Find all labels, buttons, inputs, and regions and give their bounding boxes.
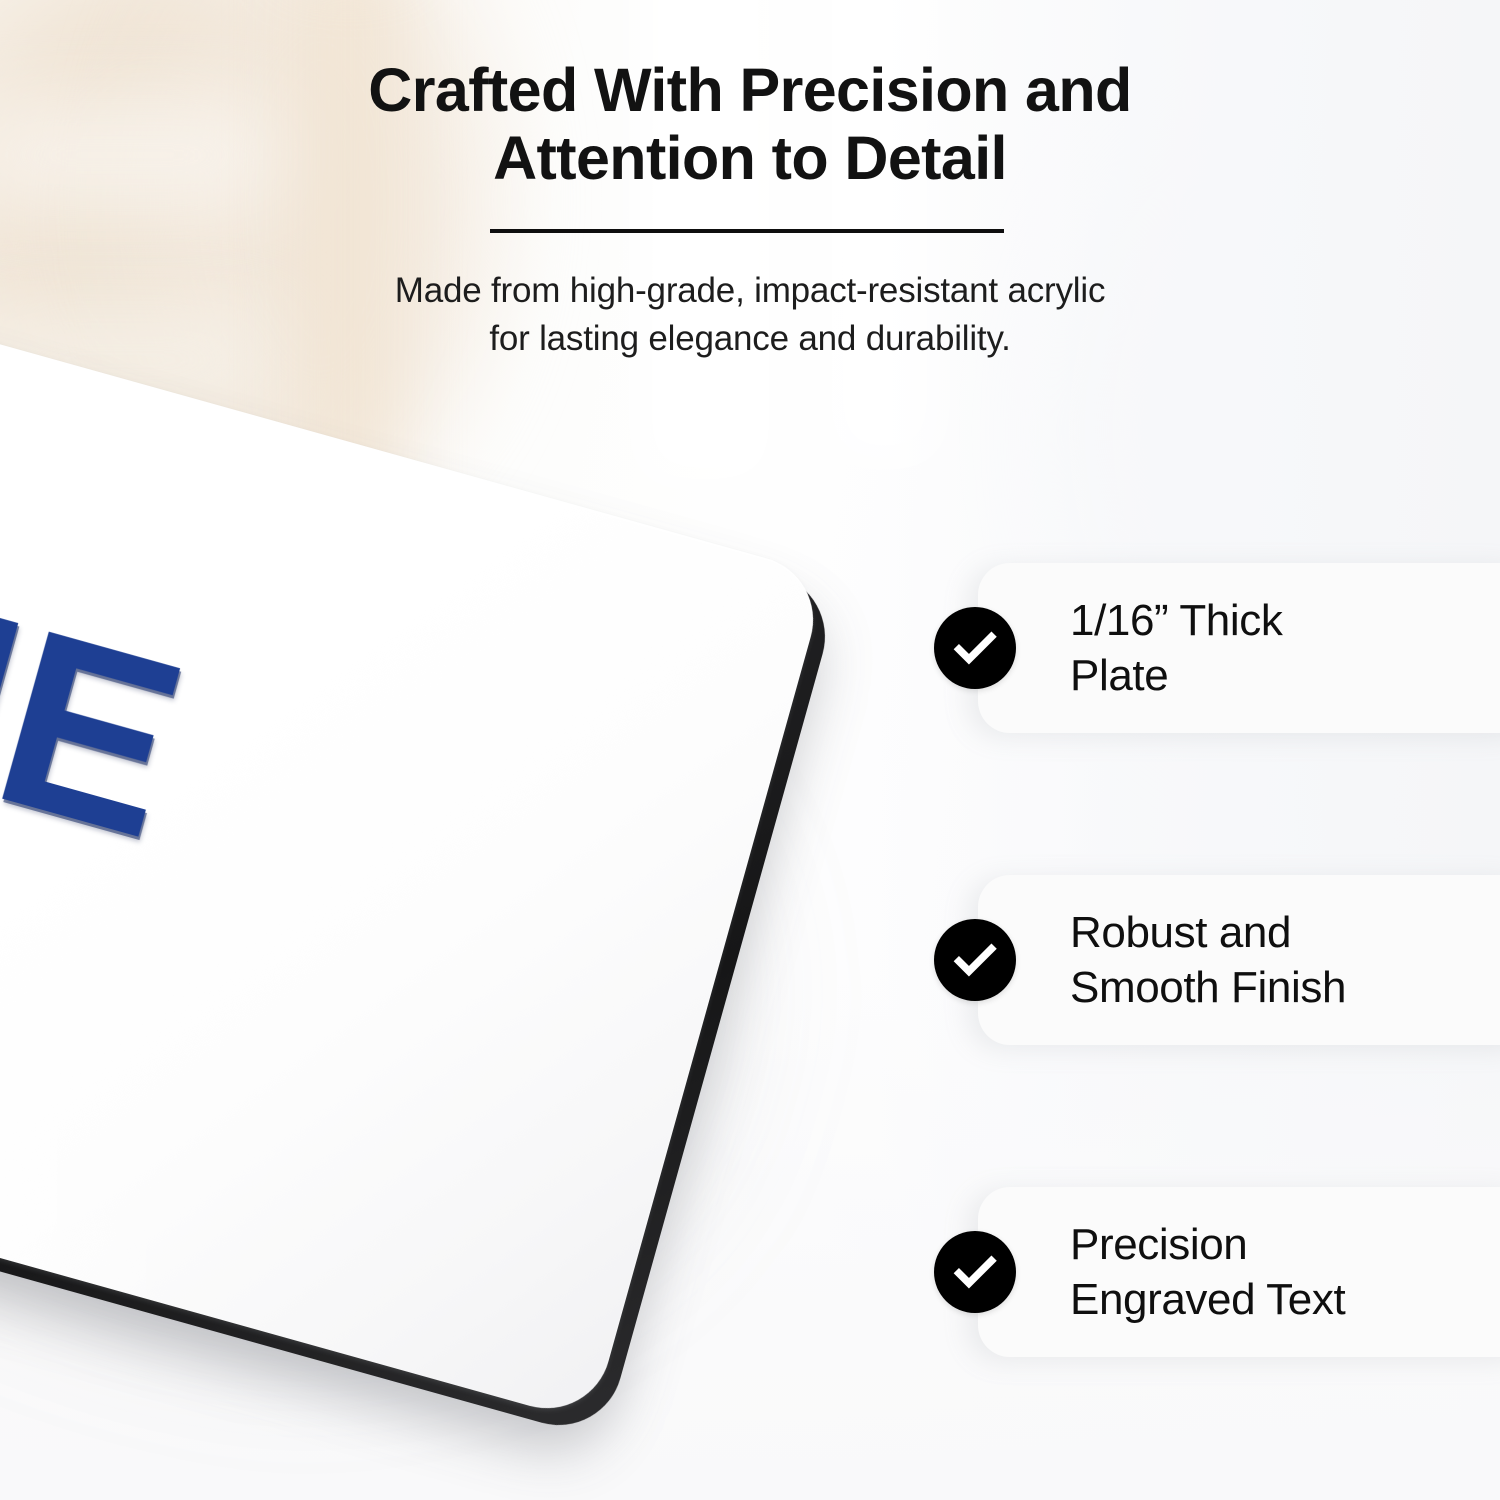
feature-label-line-2: Engraved Text — [1070, 1275, 1345, 1324]
feature-card-engraving[interactable]: Precision Engraved Text — [978, 1187, 1500, 1357]
page-title: Crafted With Precision and Attention to … — [0, 56, 1500, 193]
divider-wrap — [0, 229, 1500, 233]
feature-label-line-2: Plate — [1070, 651, 1168, 700]
feature-label-line-1: 1/16” Thick — [1070, 596, 1282, 645]
product-feature-banner: Crafted With Precision and Attention to … — [0, 0, 1500, 1500]
feature-list: 1/16” Thick Plate Robust and Smooth Fini… — [978, 563, 1500, 1357]
headline-line-2: Attention to Detail — [0, 124, 1500, 192]
feature-card-thickness[interactable]: 1/16” Thick Plate — [978, 563, 1500, 733]
check-circle-icon — [934, 919, 1016, 1001]
feature-label-line-1: Robust and — [1070, 908, 1291, 957]
subcopy-line-2: for lasting elegance and durability. — [0, 315, 1500, 363]
header-block: Crafted With Precision and Attention to … — [0, 56, 1500, 363]
product-image-nameplate: NAME — [0, 300, 950, 1460]
feature-label-line-2: Smooth Finish — [1070, 963, 1346, 1012]
subcopy-line-1: Made from high-grade, impact-resistant a… — [0, 267, 1500, 315]
feature-label: Robust and Smooth Finish — [1070, 905, 1346, 1016]
check-circle-icon — [934, 1231, 1016, 1313]
page-subtitle: Made from high-grade, impact-resistant a… — [0, 267, 1500, 364]
feature-label-line-1: Precision — [1070, 1220, 1247, 1269]
headline-line-1: Crafted With Precision and — [0, 56, 1500, 124]
check-circle-icon — [934, 607, 1016, 689]
feature-label: Precision Engraved Text — [1070, 1217, 1345, 1328]
feature-card-finish[interactable]: Robust and Smooth Finish — [978, 875, 1500, 1045]
title-divider-rule — [490, 229, 1004, 233]
feature-label: 1/16” Thick Plate — [1070, 593, 1282, 704]
